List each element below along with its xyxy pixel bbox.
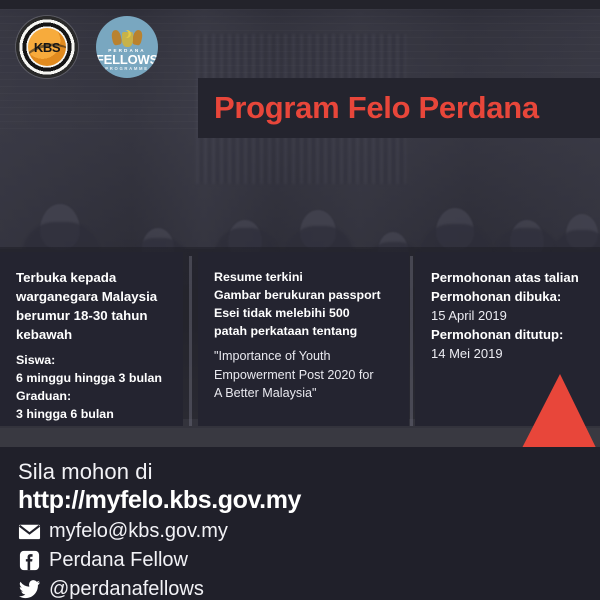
contact-facebook-row[interactable]: Perdana Fellow bbox=[18, 547, 448, 573]
requirements-heading: Resume terkini Gambar berukuran passport… bbox=[214, 268, 395, 340]
email-icon bbox=[18, 520, 41, 543]
panel-eligibility: Terbuka kepada warganegara Malaysia beru… bbox=[0, 252, 183, 426]
apply-label: Sila mohon di bbox=[18, 457, 448, 486]
malaysia-crest-icon bbox=[112, 25, 142, 47]
duration-line: Siswa: bbox=[16, 351, 169, 369]
kbs-logo-inner: KBS bbox=[28, 28, 66, 66]
application-close-label: Permohonan ditutup: bbox=[431, 325, 586, 344]
kbs-logo: KBS bbox=[16, 16, 78, 78]
essay-topic-quote: "Importance of Youth Empowerment Post 20… bbox=[214, 347, 395, 403]
poster-canvas: KBS PERDANA FELLOWS PROGRAMME Program Fe… bbox=[0, 0, 600, 600]
facebook-icon bbox=[18, 549, 41, 572]
eligibility-line: kebawah bbox=[16, 325, 169, 344]
fellows-logo-line-bottom: PROGRAMME bbox=[105, 66, 148, 71]
panel-requirements: Resume terkini Gambar berukuran passport… bbox=[198, 252, 409, 426]
eligibility-heading: Terbuka kepada warganegara Malaysia beru… bbox=[16, 268, 169, 344]
twitter-icon bbox=[18, 578, 41, 600]
info-panels: Terbuka kepada warganegara Malaysia beru… bbox=[0, 252, 600, 426]
application-open-label: Permohonan dibuka: bbox=[431, 287, 586, 306]
contact-facebook-text: Perdana Fellow bbox=[49, 547, 188, 573]
fellows-logo-line-main: FELLOWS bbox=[96, 53, 158, 66]
eligibility-line: berumur 18-30 tahun bbox=[16, 306, 169, 325]
application-close-date: 14 Mei 2019 bbox=[431, 344, 586, 363]
application-url[interactable]: http://myfelo.kbs.gov.my bbox=[18, 486, 448, 515]
application-open-date: 15 April 2019 bbox=[431, 306, 586, 325]
duration-line: 3 hingga 6 bulan bbox=[16, 405, 169, 423]
background-top-strip bbox=[0, 0, 600, 9]
contact-email-row[interactable]: myfelo@kbs.gov.my bbox=[18, 518, 448, 544]
background-band bbox=[0, 428, 600, 447]
contact-twitter-row[interactable]: @perdanafellows bbox=[18, 576, 448, 600]
requirement-line: Gambar berukuran passport bbox=[214, 286, 395, 304]
eligibility-line: Terbuka kepada bbox=[16, 268, 169, 287]
contact-twitter-text: @perdanafellows bbox=[49, 576, 204, 600]
contact-footer: Sila mohon di http://myfelo.kbs.gov.my m… bbox=[0, 447, 600, 600]
duration-line: 6 minggu hingga 3 bulan bbox=[16, 369, 169, 387]
title-banner: Program Felo Perdana bbox=[198, 78, 600, 138]
contact-email-text: myfelo@kbs.gov.my bbox=[49, 518, 228, 544]
quote-line: Empowerment Post 2020 for bbox=[214, 366, 395, 385]
requirement-line: Resume terkini bbox=[214, 268, 395, 286]
panel-dates: Permohonan atas talian Permohonan dibuka… bbox=[415, 252, 600, 426]
quote-line: "Importance of Youth bbox=[214, 347, 395, 366]
perdana-fellows-logo: PERDANA FELLOWS PROGRAMME bbox=[96, 16, 158, 78]
eligibility-duration: Siswa: 6 minggu hingga 3 bulan Graduan: … bbox=[16, 351, 169, 423]
eligibility-line: warganegara Malaysia bbox=[16, 287, 169, 306]
requirement-line: patah perkataan tentang bbox=[214, 322, 395, 340]
requirement-line: Esei tidak melebihi 500 bbox=[214, 304, 395, 322]
quote-line: A Better Malaysia" bbox=[214, 384, 395, 403]
kbs-wordmark: KBS bbox=[34, 40, 60, 55]
duration-line: Graduan: bbox=[16, 387, 169, 405]
page-title: Program Felo Perdana bbox=[198, 90, 539, 126]
background-crowd bbox=[0, 160, 600, 260]
online-application-label: Permohonan atas talian bbox=[431, 268, 586, 287]
